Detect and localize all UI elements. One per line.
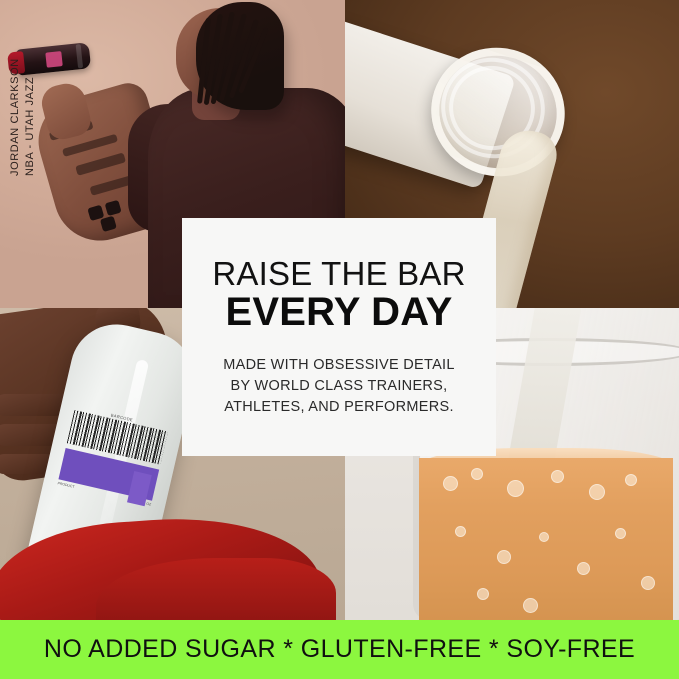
product-label: BARCODE PRODUCT 16.9 FL OZ	[57, 404, 169, 507]
amber-drink	[419, 458, 673, 620]
claims-banner: NO ADDED SUGAR * GLUTEN-FREE * SOY-FREE	[0, 620, 679, 679]
bottle-label	[45, 51, 62, 68]
claims-text: NO ADDED SUGAR * GLUTEN-FREE * SOY-FREE	[44, 635, 635, 664]
headline-card: RAISE THE BAR EVERY DAY MADE WITH OBSESS…	[182, 218, 496, 456]
subcopy-line-1: MADE WITH OBSESSIVE DETAIL	[223, 355, 455, 376]
bottle-ring	[76, 44, 83, 68]
headline-line-2: EVERY DAY	[225, 291, 452, 333]
athlete-name: JORDAN CLARKSON	[8, 58, 23, 176]
subcopy: MADE WITH OBSESSIVE DETAIL BY WORLD CLAS…	[223, 355, 455, 418]
advertisement-image: JORDAN CLARKSON NBA - UTAH JAZZ BARCODE	[0, 0, 679, 679]
athlete-credit-caption: JORDAN CLARKSON NBA - UTAH JAZZ	[8, 58, 38, 176]
athlete-team: NBA - UTAH JAZZ	[23, 58, 38, 176]
subcopy-line-2: BY WORLD CLASS TRAINERS,	[223, 376, 455, 397]
headline-line-1: RAISE THE BAR	[212, 256, 465, 292]
athlete-braided-hair	[196, 2, 284, 110]
subcopy-line-3: ATHLETES, AND PERFORMERS.	[223, 397, 455, 418]
